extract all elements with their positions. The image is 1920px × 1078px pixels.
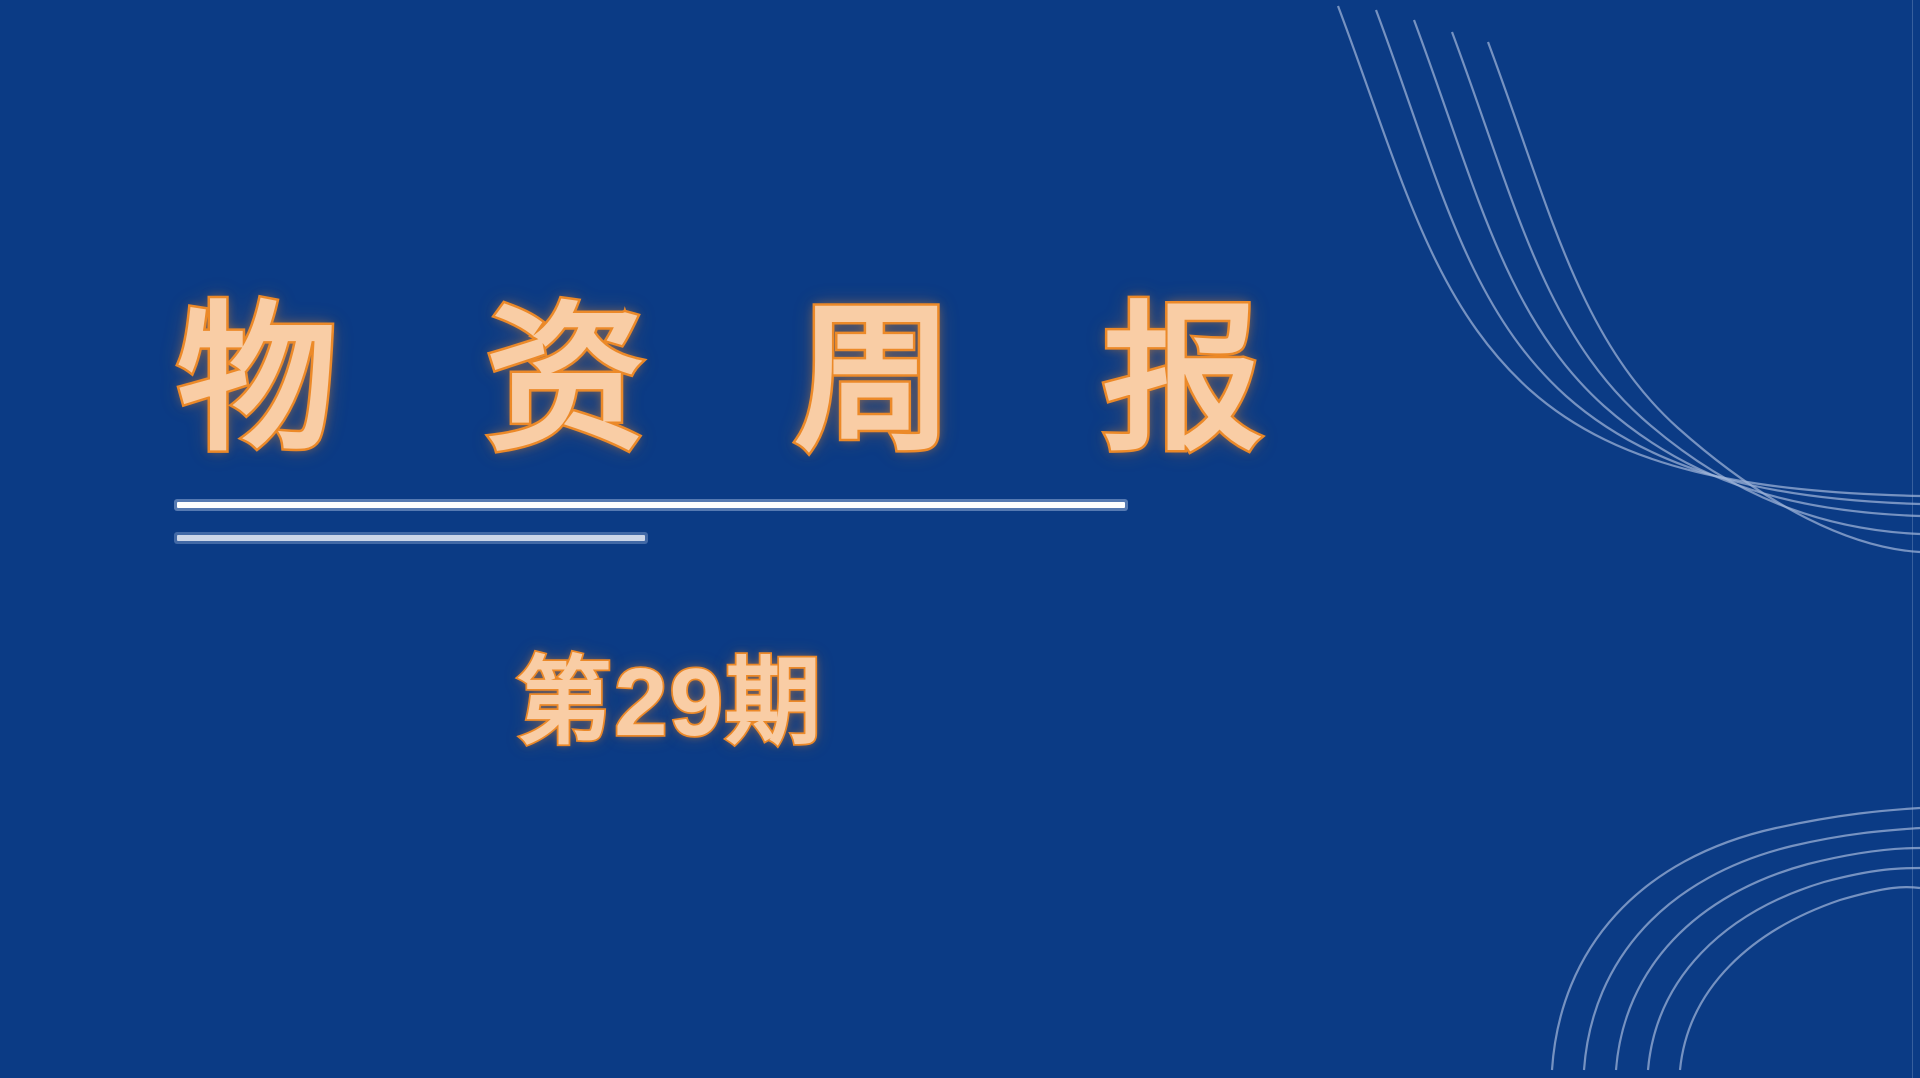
- swoosh-curves-top-right-icon: [1280, 0, 1920, 600]
- right-edge-rule: [1912, 0, 1913, 1078]
- issue-number: 第29期: [177, 655, 1162, 751]
- page-title: 物 资 周 报: [177, 300, 1177, 460]
- title-underline-long: [177, 502, 1125, 508]
- title-block: 物 资 周 报: [177, 300, 1177, 460]
- slide-canvas: 物 资 周 报 第29期: [0, 0, 1920, 1078]
- arc-curves-bottom-right-icon: [1500, 718, 1920, 1078]
- title-underline-short: [177, 535, 645, 541]
